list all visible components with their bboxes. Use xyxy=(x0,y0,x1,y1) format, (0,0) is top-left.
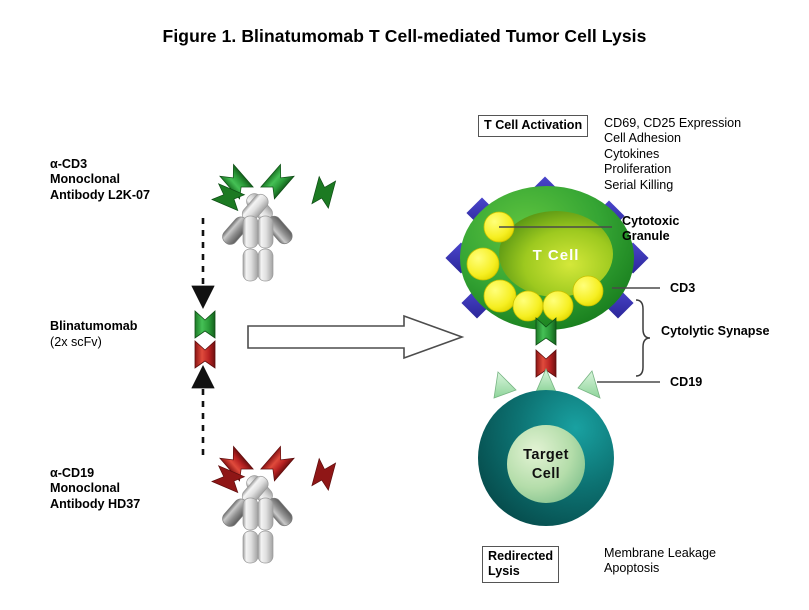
t-cell-graphic: T Cell xyxy=(445,176,648,337)
lysis-effect-item: Membrane Leakage xyxy=(604,546,716,561)
target-cell-label-line2: Cell xyxy=(532,466,560,482)
redirected-lysis-box: Redirected Lysis xyxy=(482,546,559,583)
activation-effect-item: Cytokines xyxy=(604,147,741,162)
cd19-callout: CD19 xyxy=(670,375,702,390)
anti-cd3-antibody-graphic xyxy=(204,147,345,281)
cd3-callout: CD3 xyxy=(670,281,695,296)
t-cell-label: T Cell xyxy=(533,247,580,264)
activation-effect-item: Proliferation xyxy=(604,162,741,177)
target-cell-graphic: Target Cell xyxy=(478,369,614,526)
blinatumomab-construct-graphic xyxy=(195,311,215,368)
activation-effect-item: Cell Adhesion xyxy=(604,131,741,146)
figure-canvas: Figure 1. Blinatumomab T Cell-mediated T… xyxy=(0,0,809,610)
blinatumomab-sublabel: (2x scFv) xyxy=(50,335,102,350)
activation-effect-item: Serial Killing xyxy=(604,178,741,193)
anti-cd19-label: α-CD19 Monoclonal Antibody HD37 xyxy=(50,466,140,512)
lysis-effects-list: Membrane Leakage Apoptosis xyxy=(604,546,716,577)
target-cell-label-line1: Target xyxy=(523,447,569,463)
activation-effect-item: CD69, CD25 Expression xyxy=(604,116,741,131)
cytotoxic-granule-callout: Cytotoxic Granule xyxy=(622,214,679,245)
lysis-effect-item: Apoptosis xyxy=(604,561,716,576)
process-arrow xyxy=(248,316,462,358)
blinatumomab-label: Blinatumomab xyxy=(50,319,137,334)
anti-cd19-antibody-graphic xyxy=(204,429,345,563)
cytolytic-synapse-callout: Cytolytic Synapse xyxy=(661,324,770,339)
t-cell-activation-box: T Cell Activation xyxy=(478,115,588,137)
anti-cd3-label: α-CD3 Monoclonal Antibody L2K-07 xyxy=(50,157,150,203)
activation-effects-list: CD69, CD25 Expression Cell Adhesion Cyto… xyxy=(604,116,741,193)
diagram-graphics: T Cell Target Cell xyxy=(0,0,809,610)
